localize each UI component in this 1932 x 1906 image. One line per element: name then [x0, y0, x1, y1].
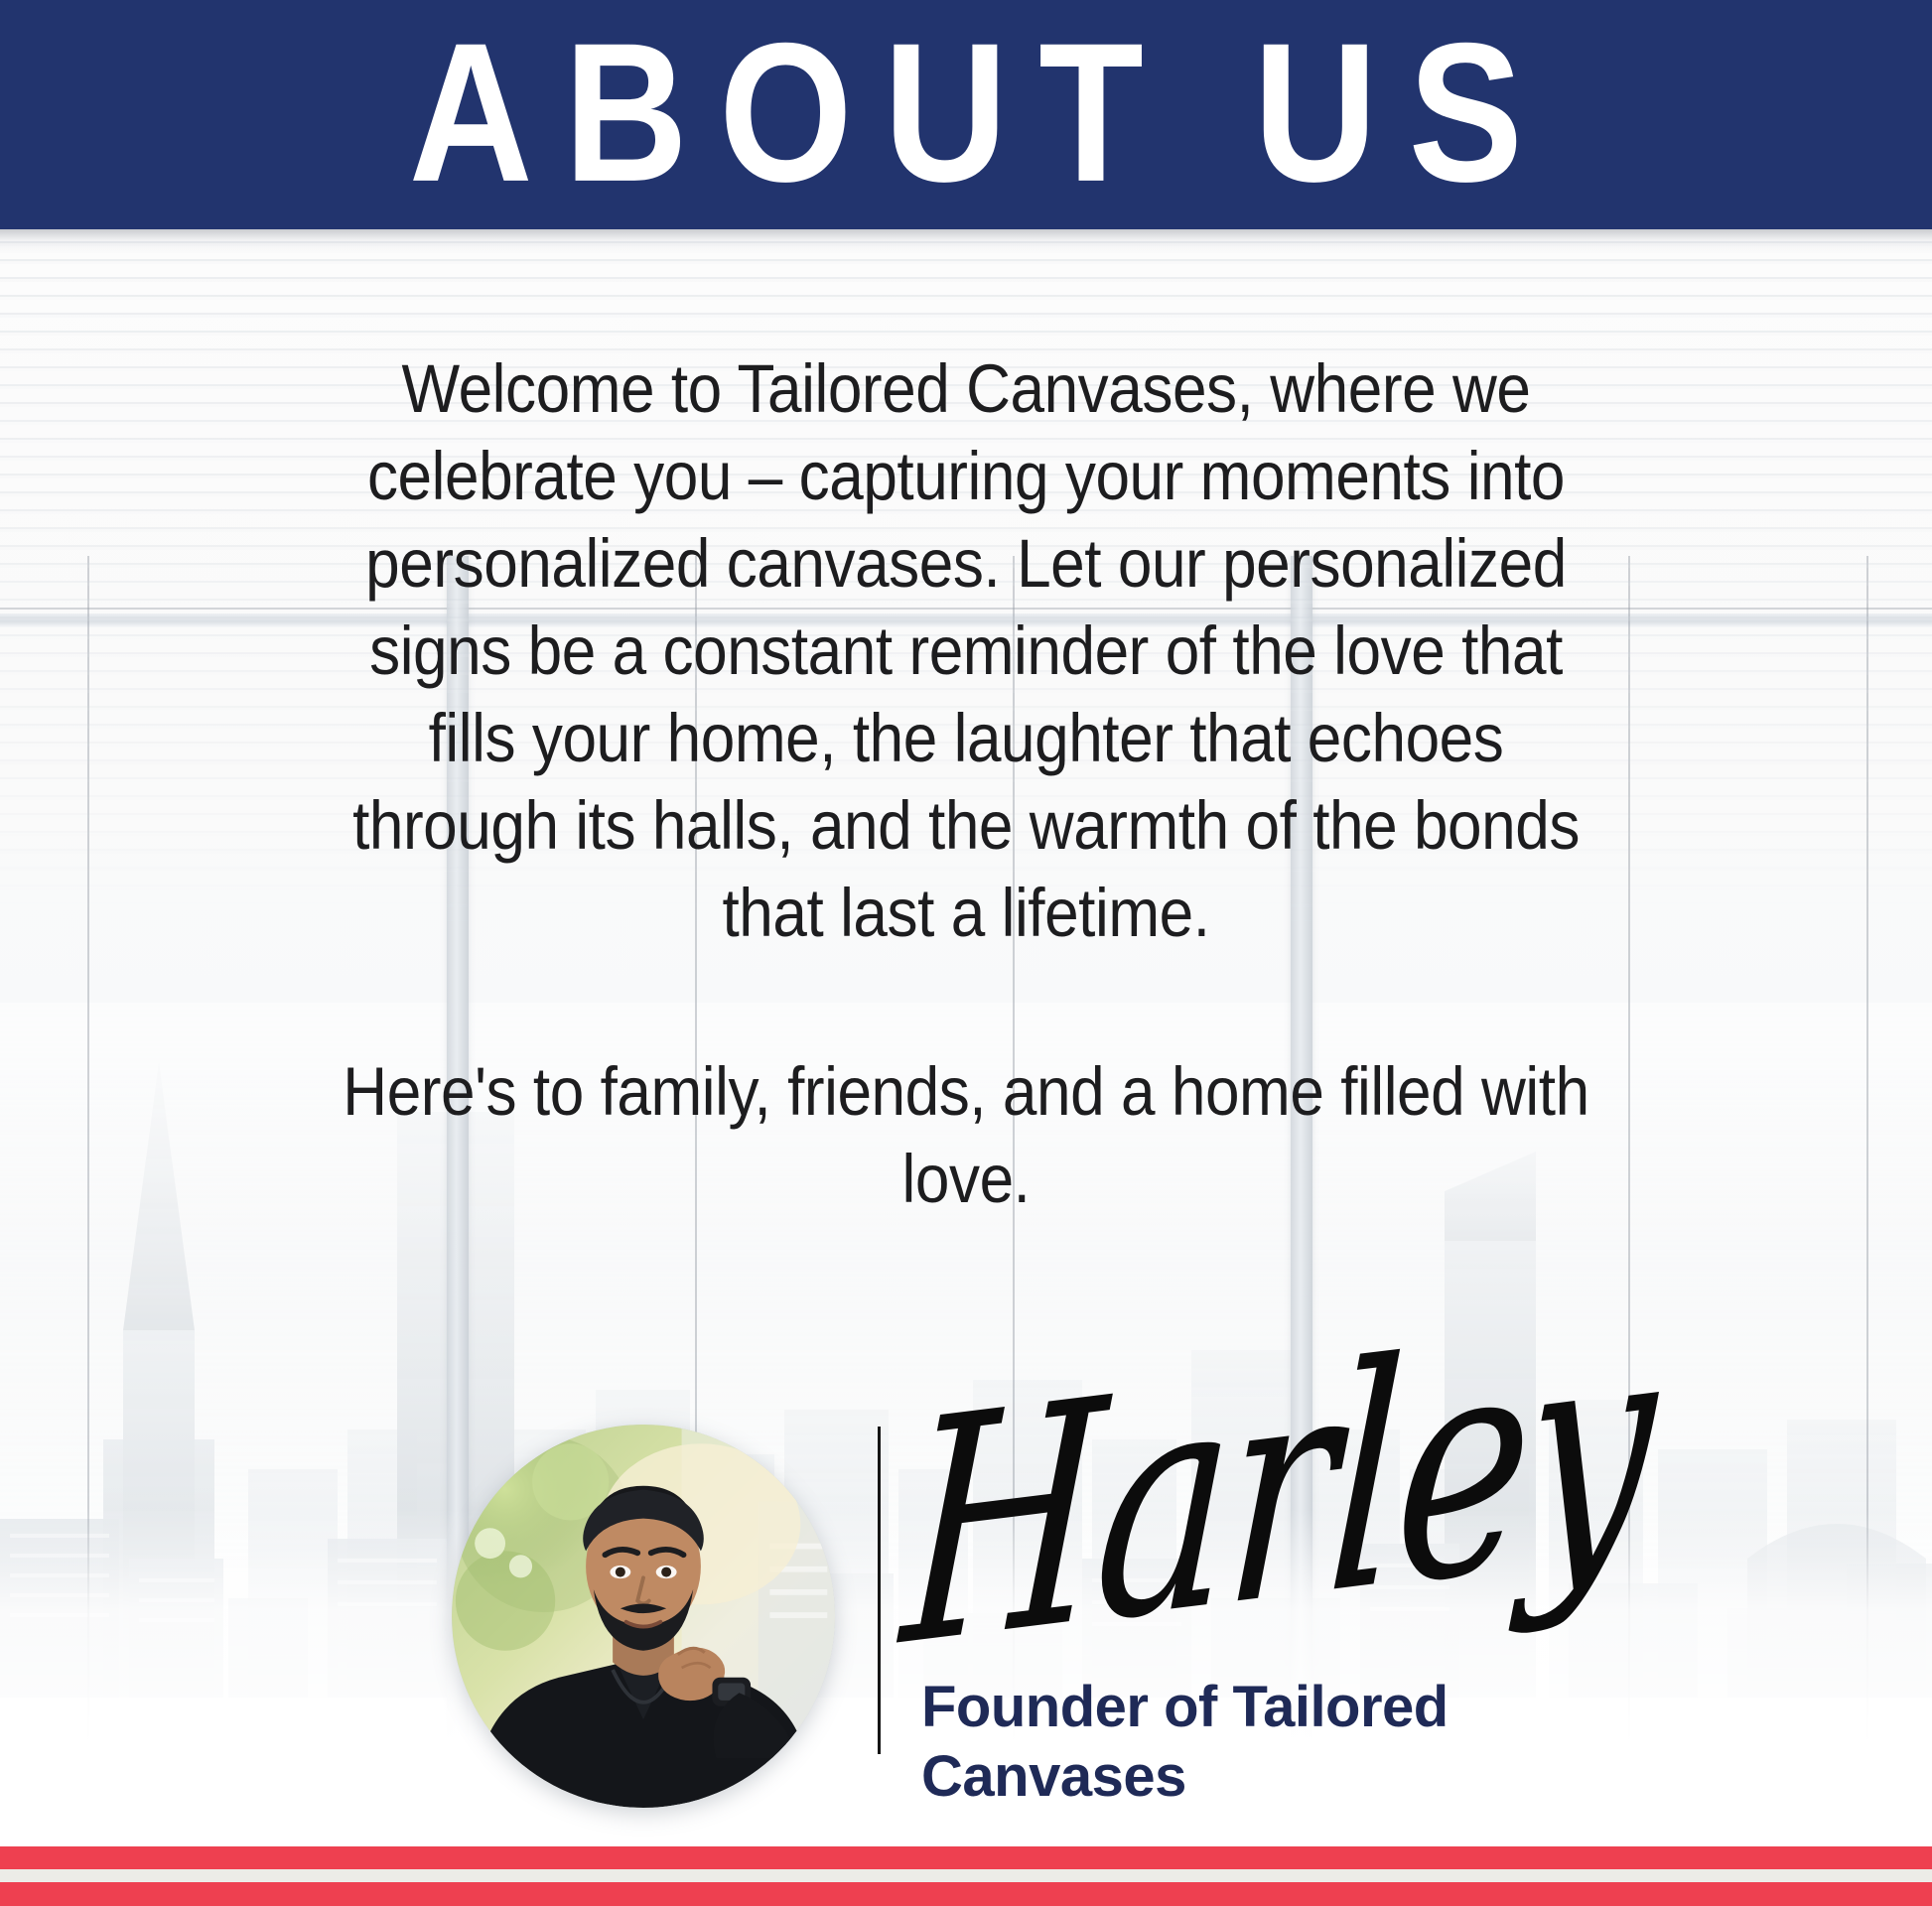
founder-portrait-illustration [452, 1425, 835, 1808]
founder-role-line-2: Canvases [921, 1742, 1537, 1812]
about-us-body: Welcome to Tailored Canvases, where we c… [261, 345, 1671, 1223]
footer-stripe-top [0, 1846, 1932, 1869]
footer-stripe-gap [0, 1869, 1932, 1882]
paragraph-spacer [261, 957, 1671, 1048]
founder-role-line-1: Founder of Tailored [921, 1673, 1537, 1742]
signature-wrap: Harley Founder of Tailored Canvases [903, 1405, 1598, 1841]
founder-signature: Harley [897, 1292, 1657, 1690]
avatar [452, 1425, 835, 1808]
banner-drop-shadow [0, 228, 1932, 254]
founder-role: Founder of Tailored Canvases [921, 1673, 1537, 1812]
footer-stripe-bottom [0, 1882, 1932, 1906]
signature-divider [878, 1427, 881, 1754]
page-title: ABOUT US [378, 13, 1555, 210]
founder-signature-block: Harley Founder of Tailored Canvases [0, 1405, 1932, 1841]
about-paragraph-1: Welcome to Tailored Canvases, where we c… [332, 345, 1600, 957]
about-paragraph-2: Here's to family, friends, and a home fi… [332, 1048, 1600, 1223]
about-us-banner: ABOUT US [0, 0, 1932, 229]
about-us-poster: ABOUT US Welcome to Tailored Canvases, w… [0, 0, 1932, 1906]
